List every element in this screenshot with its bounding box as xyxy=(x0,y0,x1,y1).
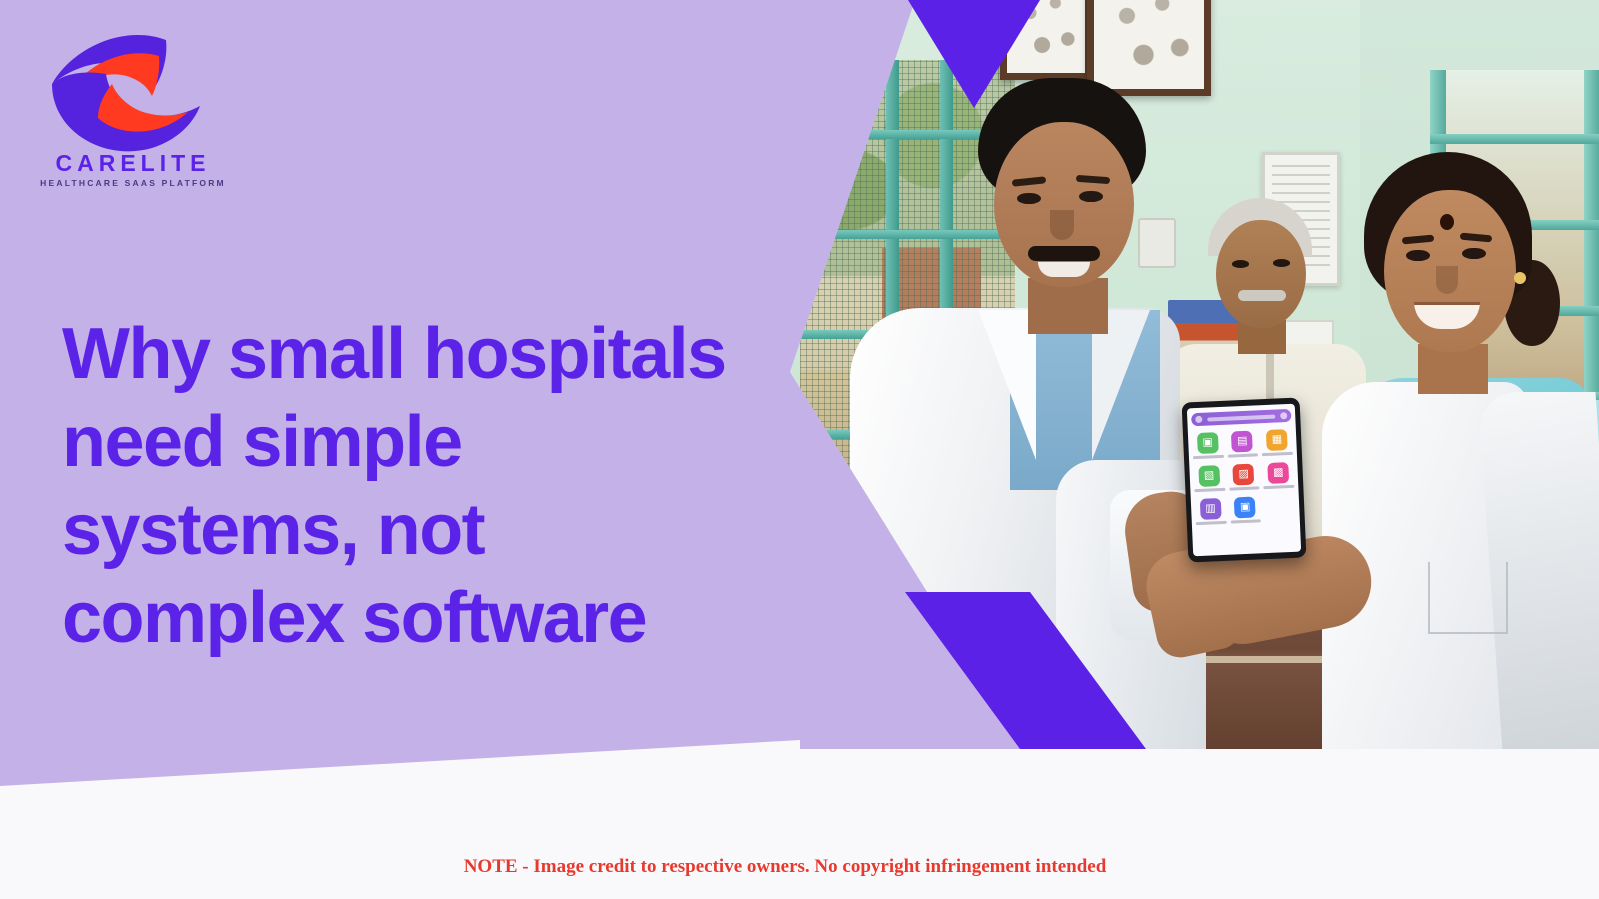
tablet-app-cell[interactable]: ▣ xyxy=(1192,432,1224,459)
nurse-eye-left xyxy=(1406,250,1430,261)
chat-icon[interactable]: ▤ xyxy=(1231,431,1253,453)
nurse-nose xyxy=(1436,266,1458,294)
tablet-app-label xyxy=(1196,521,1227,525)
tablet-app-cell[interactable]: ▥ xyxy=(1195,498,1227,525)
tablet-app-cell[interactable]: ▧ xyxy=(1193,465,1225,492)
poster-canvas: ▣▤▦▧▨▩▥▣ CARELITE HEALTHCARE SAAS PLATFO… xyxy=(0,0,1599,899)
doctor-nose xyxy=(1050,210,1074,240)
tablet-app-label xyxy=(1230,519,1261,523)
cart-icon[interactable]: ▣ xyxy=(1197,432,1219,454)
page-title-line-2: need simple xyxy=(62,398,762,486)
tablet-app-label xyxy=(1229,486,1260,490)
tablet-app-cell[interactable]: ▣ xyxy=(1229,496,1261,523)
tablet-app-label xyxy=(1193,455,1224,459)
patient-moustache xyxy=(1238,290,1286,301)
tablet-app-cell[interactable]: ▦ xyxy=(1261,429,1293,456)
tablet-app-label xyxy=(1262,452,1293,456)
carelite-c-logo xyxy=(28,22,238,152)
nurse-bindi xyxy=(1440,214,1454,230)
nurse-figure xyxy=(1318,152,1599,749)
nurse-eye-right xyxy=(1462,248,1486,259)
tablet-app-label xyxy=(1264,485,1295,489)
page-title-line-3: systems, not xyxy=(62,486,762,574)
tablet-app-label xyxy=(1194,488,1225,492)
lab-icon[interactable]: ▩ xyxy=(1267,462,1289,484)
profile-dot-icon xyxy=(1280,412,1287,419)
tablet-app-label xyxy=(1228,453,1259,457)
tablet-app-cell[interactable]: ▩ xyxy=(1263,462,1295,489)
copyright-note: NOTE - Image credit to respective owners… xyxy=(0,856,1570,878)
tablet-device[interactable]: ▣▤▦▧▨▩▥▣ xyxy=(1182,398,1307,563)
tablet-app-cell[interactable]: ▤ xyxy=(1227,430,1259,457)
tablet-app-title xyxy=(1207,414,1275,421)
bed-icon[interactable]: ▥ xyxy=(1200,498,1222,520)
tablet-app-header xyxy=(1191,409,1291,426)
nurse-coat-pocket xyxy=(1428,562,1508,634)
pharmacy-icon[interactable]: ▧ xyxy=(1198,465,1220,487)
doctor-eye-right xyxy=(1079,191,1103,202)
tablet-app-grid: ▣▤▦▧▨▩▥▣ xyxy=(1192,429,1296,525)
report-icon[interactable]: ▨ xyxy=(1233,464,1255,486)
billing-icon[interactable]: ▣ xyxy=(1234,497,1256,519)
page-title: Why small hospitalsneed simplesystems, n… xyxy=(62,310,762,662)
brand-tagline: HEALTHCARE SAAS PLATFORM xyxy=(28,178,238,188)
page-title-line-1: Why small hospitals xyxy=(62,310,762,398)
menu-dot-icon xyxy=(1195,416,1202,423)
doctor-mouth xyxy=(1038,262,1090,277)
doctor-moustache xyxy=(1028,246,1100,261)
nurse-earring xyxy=(1514,272,1526,284)
tablet-app-cell[interactable]: ▨ xyxy=(1228,463,1260,490)
tablet-screen[interactable]: ▣▤▦▧▨▩▥▣ xyxy=(1187,404,1301,557)
patient-eye-left xyxy=(1232,260,1249,268)
patient-face xyxy=(1216,220,1306,328)
patient-eye-right xyxy=(1273,259,1290,267)
window-right-bar1 xyxy=(1430,134,1599,144)
calendar-icon[interactable]: ▦ xyxy=(1266,429,1288,451)
brand-name: CARELITE xyxy=(28,150,238,177)
doctor-eye-left xyxy=(1017,193,1041,204)
page-title-line-4: complex software xyxy=(62,574,762,662)
brand-logo[interactable]: CARELITE HEALTHCARE SAAS PLATFORM xyxy=(28,22,238,174)
